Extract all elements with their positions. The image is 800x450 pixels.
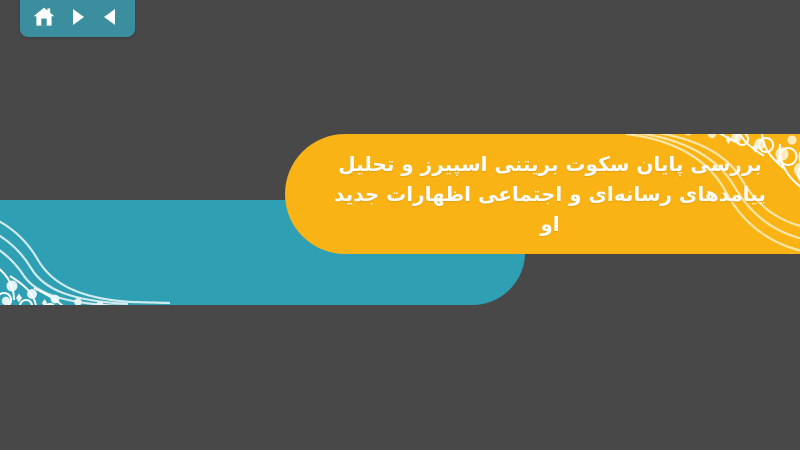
slide-canvas: بررسی پایان سکوت بریتنی اسپیرز و تحلیل پ… <box>0 0 800 450</box>
orange-title-panel <box>285 134 800 254</box>
forward-button[interactable] <box>65 4 91 30</box>
back-button[interactable] <box>98 4 124 30</box>
home-icon <box>32 5 56 29</box>
home-button[interactable] <box>31 4 57 30</box>
teal-arabesque-ornament-icon <box>0 202 170 305</box>
forward-icon <box>67 6 89 28</box>
back-icon <box>100 6 122 28</box>
orange-arabesque-ornament-icon <box>626 134 800 254</box>
navigation-bar <box>20 0 135 37</box>
